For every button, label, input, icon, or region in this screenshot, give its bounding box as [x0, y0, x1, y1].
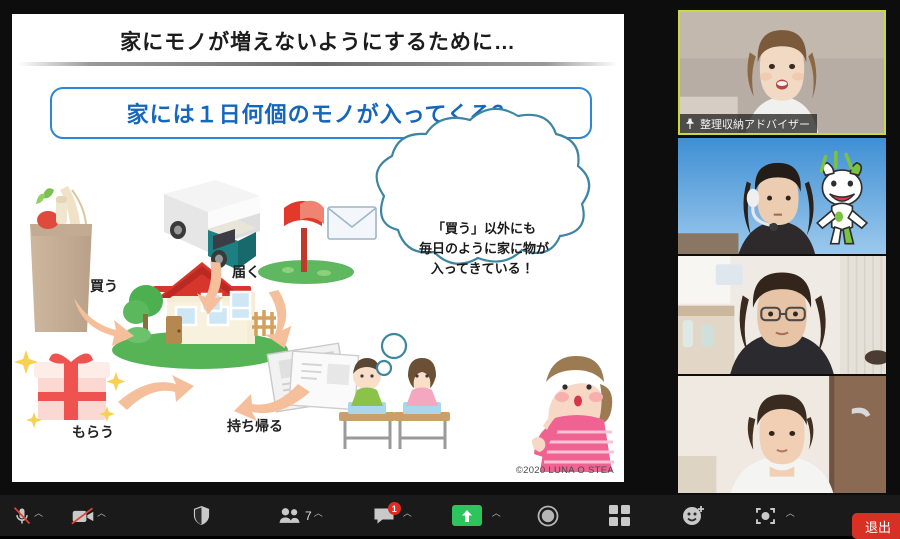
zoom-meeting-window: 家にモノが増えないようにするために… 家には１日何個のモノが入ってくる？ — [0, 0, 900, 536]
breakout-rooms-button[interactable] — [609, 495, 630, 536]
video-tile-3[interactable] — [678, 256, 886, 374]
video-options-caret[interactable]: ︿ — [95, 509, 108, 518]
presentation-slide: 家にモノが増えないようにするために… 家には１日何個のモノが入ってくる？ — [12, 14, 624, 482]
shield-icon — [192, 505, 211, 526]
share-screen-icon — [452, 505, 482, 526]
video-tile-1-name-tag: 整理収納アドバイザー — [680, 114, 817, 133]
record-button[interactable] — [537, 495, 559, 536]
record-icon — [537, 505, 559, 527]
camera-muted-icon — [71, 506, 95, 526]
participants-icon — [279, 507, 301, 524]
thought-bubble-text: 「買う」以外にも 毎日のように家に物が 入ってきている ！ — [384, 219, 584, 279]
participants-count: 7 — [305, 509, 312, 523]
chat-unread-badge: 1 — [388, 502, 401, 515]
slide-title-divider — [18, 62, 618, 66]
microphone-muted-icon — [12, 506, 32, 526]
slide-copyright: ©2020 LUNA O STEA — [516, 465, 614, 476]
diagram-label-deliver: 届く — [232, 262, 260, 282]
thinking-girl-icon — [532, 356, 614, 472]
child-right — [406, 358, 438, 406]
meeting-toolbar: ︿ ︿ 7 ︿ — [0, 495, 900, 536]
slide-title: 家にモノが増えないようにするために… — [12, 26, 624, 56]
slide-question-text: 家には１日何個のモノが入ってくる？ — [127, 97, 516, 129]
house-icon — [112, 262, 288, 369]
delivery-truck-icon — [164, 180, 260, 270]
video-tile-4[interactable] — [678, 376, 886, 493]
upload-arrow-icon — [461, 509, 473, 523]
video-button[interactable] — [71, 495, 95, 536]
newspapers-icon — [267, 343, 358, 412]
grid-squares-icon — [609, 505, 630, 526]
video-feed-2 — [678, 138, 886, 254]
apps-bracket-icon — [755, 506, 776, 526]
shared-screen-region[interactable]: 家にモノが増えないようにするために… 家には１日何個のモノが入ってくる？ — [0, 0, 656, 495]
pin-icon — [685, 118, 695, 129]
mute-button[interactable] — [12, 495, 32, 536]
video-feed-4 — [678, 376, 886, 493]
video-tile-1[interactable]: 整理収納アドバイザー — [678, 10, 886, 135]
gift-box-icon — [14, 350, 126, 428]
video-feed-3 — [678, 256, 886, 374]
apps-button[interactable] — [755, 495, 776, 536]
envelope-icon — [328, 207, 376, 239]
reactions-button[interactable] — [682, 495, 705, 536]
share-options-caret[interactable]: ︿ — [490, 509, 503, 518]
diagram-label-receive: もらう — [72, 422, 114, 442]
participants-options-caret[interactable]: ︿ — [312, 509, 325, 518]
mute-options-caret[interactable]: ︿ — [32, 509, 45, 518]
chat-options-caret[interactable]: ︿ — [401, 509, 414, 518]
diagram-label-carry-home: 持ち帰る — [227, 416, 283, 436]
slide-question-box: 家には１日何個のモノが入ってくる？ — [50, 87, 592, 139]
apps-options-caret[interactable]: ︿ — [784, 509, 797, 518]
grocery-bag-icon — [30, 186, 92, 332]
video-tile-1-name: 整理収納アドバイザー — [700, 116, 810, 132]
participants-button[interactable]: 7 — [279, 495, 312, 536]
share-screen-button[interactable] — [452, 495, 482, 536]
reactions-smiley-icon — [682, 505, 705, 526]
video-thumbnail-panel: 整理収納アドバイザー — [664, 0, 900, 495]
diagram-label-buy: 買う — [90, 276, 118, 296]
mailbox-icon — [258, 201, 354, 284]
panel-divider — [650, 0, 664, 495]
children-at-desks-icon — [339, 358, 450, 449]
security-button[interactable] — [192, 495, 211, 536]
chat-button[interactable]: 1 — [373, 495, 395, 536]
leave-meeting-button[interactable]: 退出 — [852, 513, 900, 539]
video-tile-2[interactable] — [678, 138, 886, 254]
child-left — [351, 358, 383, 406]
